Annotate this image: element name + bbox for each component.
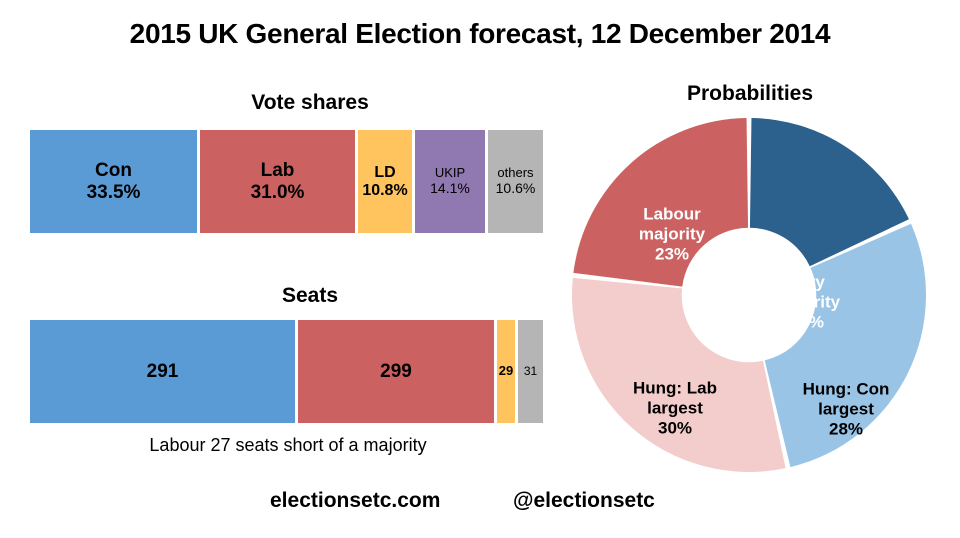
donut-label-line2: majority	[639, 224, 706, 243]
segment-value: 31.0%	[251, 182, 305, 203]
probabilities-heading: Probabilities	[575, 82, 925, 106]
donut-label-value: 30%	[658, 418, 692, 437]
segment-label: Con	[95, 160, 132, 181]
donut-label-line1: Hung: Con	[803, 379, 890, 398]
seats-segment-con: 291	[30, 320, 298, 423]
donut-label-line2: majority	[774, 292, 841, 311]
segment-value: 10.6%	[496, 181, 536, 197]
vote-share-segment-con: Con 33.5%	[30, 130, 200, 233]
seats-segment-others: 31	[518, 320, 543, 423]
segment-value: 29	[499, 364, 513, 379]
segment-value: 14.1%	[430, 181, 470, 197]
seats-segment-lab: 299	[298, 320, 497, 423]
vote-share-segment-lab: Lab 31.0%	[200, 130, 358, 233]
segment-value: 299	[380, 361, 412, 382]
footer-website: electionsetc.com	[270, 489, 440, 513]
vote-share-segment-ukip: UKIP 14.1%	[415, 130, 488, 233]
segment-value: 291	[147, 361, 179, 382]
donut-label-value: 18%	[790, 312, 824, 331]
segment-label: Lab	[261, 160, 295, 181]
donut-label-line1: Labour	[643, 204, 701, 223]
vote-shares-chart: Con 33.5% Lab 31.0% LD 10.8% UKIP 14.1% …	[30, 130, 546, 233]
seats-chart: 291 299 29 31	[30, 320, 546, 423]
segment-value: 10.8%	[362, 182, 407, 200]
page-title: 2015 UK General Election forecast, 12 De…	[0, 18, 960, 50]
donut-slices	[572, 118, 926, 472]
vote-share-segment-ld: LD 10.8%	[358, 130, 415, 233]
segment-value: 33.5%	[87, 182, 141, 203]
vote-shares-heading: Vote shares	[110, 91, 510, 115]
segment-value: 31	[524, 365, 537, 378]
footer-twitter-handle: @electionsetc	[513, 489, 655, 513]
donut-slice-hung-lab-largest[interactable]	[572, 278, 786, 472]
seats-segment-ld: 29	[497, 320, 518, 423]
seats-annotation: Labour 27 seats short of a majority	[30, 435, 546, 456]
segment-label: UKIP	[435, 166, 465, 181]
probabilities-donut-chart: Tory majority 18% Hung: Con largest 28% …	[571, 117, 927, 473]
donut-label-value: 23%	[655, 244, 689, 263]
donut-label-value: 28%	[829, 419, 863, 438]
vote-share-segment-others: others 10.6%	[488, 130, 543, 233]
donut-label-line2: largest	[647, 398, 703, 417]
donut-label-line2: largest	[818, 399, 874, 418]
segment-label: LD	[374, 164, 395, 182]
donut-label-line1: Tory	[789, 272, 825, 291]
segment-label: others	[497, 166, 533, 181]
seats-heading: Seats	[110, 284, 510, 308]
donut-label-line1: Hung: Lab	[633, 378, 717, 397]
infographic-canvas: 2015 UK General Election forecast, 12 De…	[0, 0, 960, 538]
